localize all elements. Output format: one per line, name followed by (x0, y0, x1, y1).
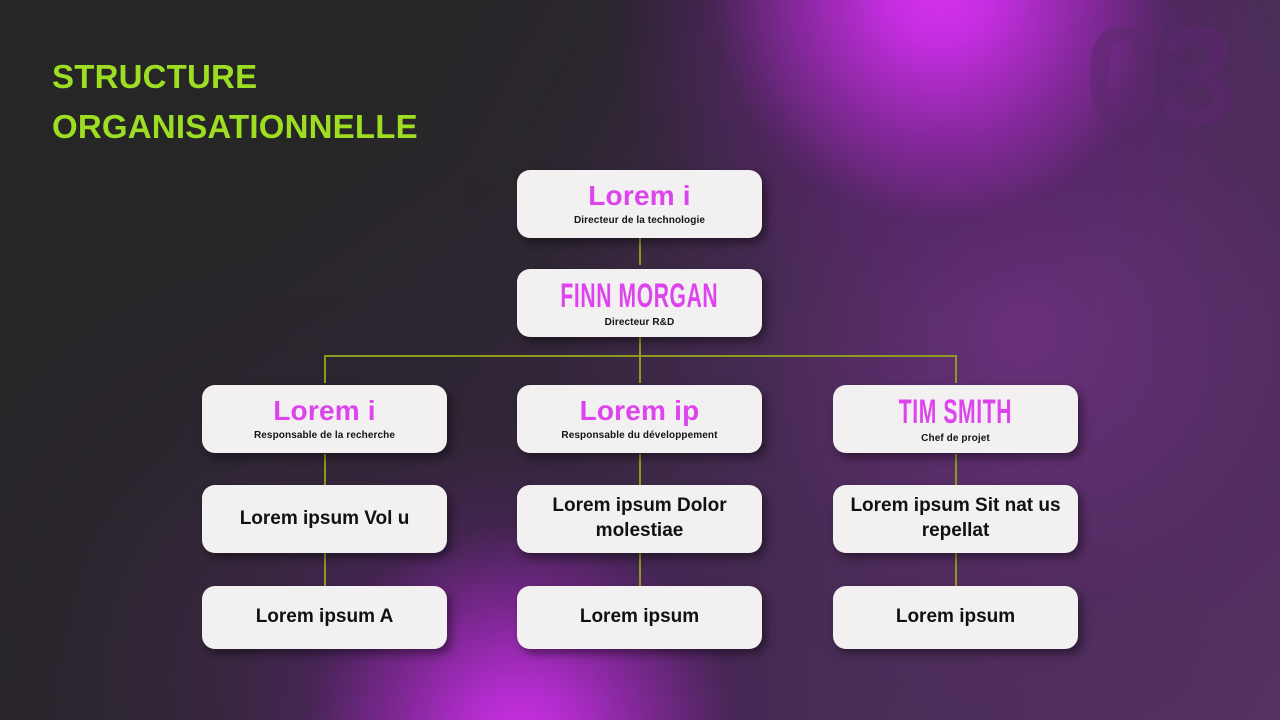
org-chart: Lorem i Directeur de la technologie FINN… (0, 0, 1280, 720)
connector-l1-l2 (639, 237, 641, 265)
org-node-role: Directeur R&D (605, 317, 675, 330)
org-node-l3-center[interactable]: Lorem ip Responsable du développement (517, 385, 762, 453)
connector-l3-l4-left (324, 454, 326, 486)
connector-l3-l4-center (639, 454, 641, 486)
org-node-name: Lorem i (273, 395, 376, 426)
org-node-name: Lorem ip (580, 395, 700, 426)
org-node-text: Lorem ipsum A (256, 605, 394, 630)
org-node-l5-center[interactable]: Lorem ipsum (517, 586, 762, 649)
org-node-l4-left[interactable]: Lorem ipsum Vol u (202, 485, 447, 553)
connector-l4-l5-center (639, 552, 641, 586)
org-node-l5-left[interactable]: Lorem ipsum A (202, 586, 447, 649)
org-node-l5-right[interactable]: Lorem ipsum (833, 586, 1078, 649)
org-node-text: Lorem ipsum Sit nat us repellat (845, 494, 1066, 543)
org-node-l1[interactable]: Lorem i Directeur de la technologie (517, 170, 762, 238)
org-node-role: Directeur de la technologie (574, 215, 705, 228)
org-node-l2[interactable]: FINN MORGAN Directeur R&D (517, 269, 762, 337)
connector-l4-l5-right (955, 552, 957, 586)
connector-bus-drop-right (955, 355, 957, 383)
org-node-role: Chef de projet (921, 433, 990, 446)
org-node-name: Lorem i (588, 180, 691, 211)
org-node-text: Lorem ipsum Vol u (240, 507, 410, 532)
org-node-l3-left[interactable]: Lorem i Responsable de la recherche (202, 385, 447, 453)
connector-bus-drop-left (324, 355, 326, 383)
org-node-text: Lorem ipsum (896, 605, 1015, 630)
connector-bus-drop-center (639, 355, 641, 383)
org-node-role: Responsable de la recherche (254, 430, 395, 443)
org-node-l3-right[interactable]: TIM SMITH Chef de projet (833, 385, 1078, 453)
slide-canvas: 03 STRUCTURE ORGANISATIONNELLE Lorem i D… (0, 0, 1280, 720)
org-node-l4-center[interactable]: Lorem ipsum Dolor molestiae (517, 485, 762, 553)
org-node-role: Responsable du développement (561, 430, 717, 443)
org-node-l4-right[interactable]: Lorem ipsum Sit nat us repellat (833, 485, 1078, 553)
connector-l2-bus (639, 337, 641, 357)
org-node-name: TIM SMITH (899, 393, 1012, 431)
org-node-text: Lorem ipsum (580, 605, 699, 630)
org-node-text: Lorem ipsum Dolor molestiae (529, 494, 750, 543)
connector-l3-l4-right (955, 454, 957, 486)
org-node-name: FINN MORGAN (561, 277, 719, 315)
connector-l4-l5-left (324, 552, 326, 586)
